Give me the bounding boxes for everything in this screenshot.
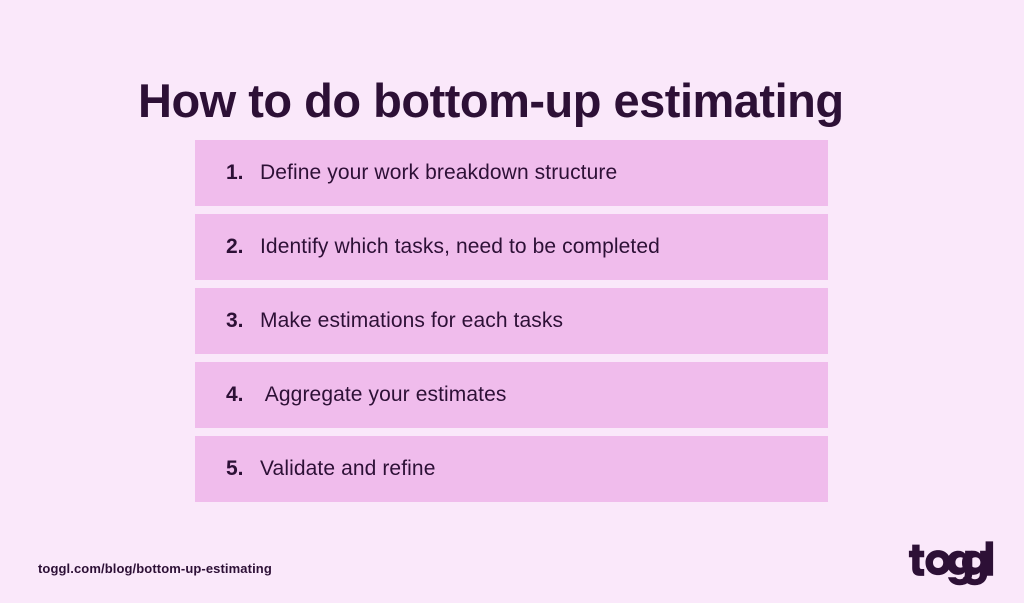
step-label: Validate and refine bbox=[260, 457, 435, 481]
step-number: 4. bbox=[226, 383, 260, 407]
step-number: 3. bbox=[226, 309, 260, 333]
list-item: 1. Define your work breakdown structure bbox=[195, 140, 828, 206]
step-number: 1. bbox=[226, 161, 260, 185]
page-title: How to do bottom-up estimating bbox=[138, 75, 844, 127]
list-item: 5. Validate and refine bbox=[195, 436, 828, 502]
step-label: Aggregate your estimates bbox=[260, 383, 506, 407]
toggl-logo-icon bbox=[908, 540, 994, 586]
step-label: Define your work breakdown structure bbox=[260, 161, 617, 185]
step-label: Make estimations for each tasks bbox=[260, 309, 563, 333]
step-number: 2. bbox=[226, 235, 260, 259]
step-number: 5. bbox=[226, 457, 260, 481]
list-item: 3. Make estimations for each tasks bbox=[195, 288, 828, 354]
source-url: toggl.com/blog/bottom-up-estimating bbox=[38, 561, 272, 576]
steps-list: 1. Define your work breakdown structure … bbox=[195, 140, 828, 502]
list-item: 4. Aggregate your estimates bbox=[195, 362, 828, 428]
list-item: 2. Identify which tasks, need to be comp… bbox=[195, 214, 828, 280]
slide-canvas: How to do bottom-up estimating 1. Define… bbox=[0, 0, 1024, 603]
step-label: Identify which tasks, need to be complet… bbox=[260, 235, 660, 259]
